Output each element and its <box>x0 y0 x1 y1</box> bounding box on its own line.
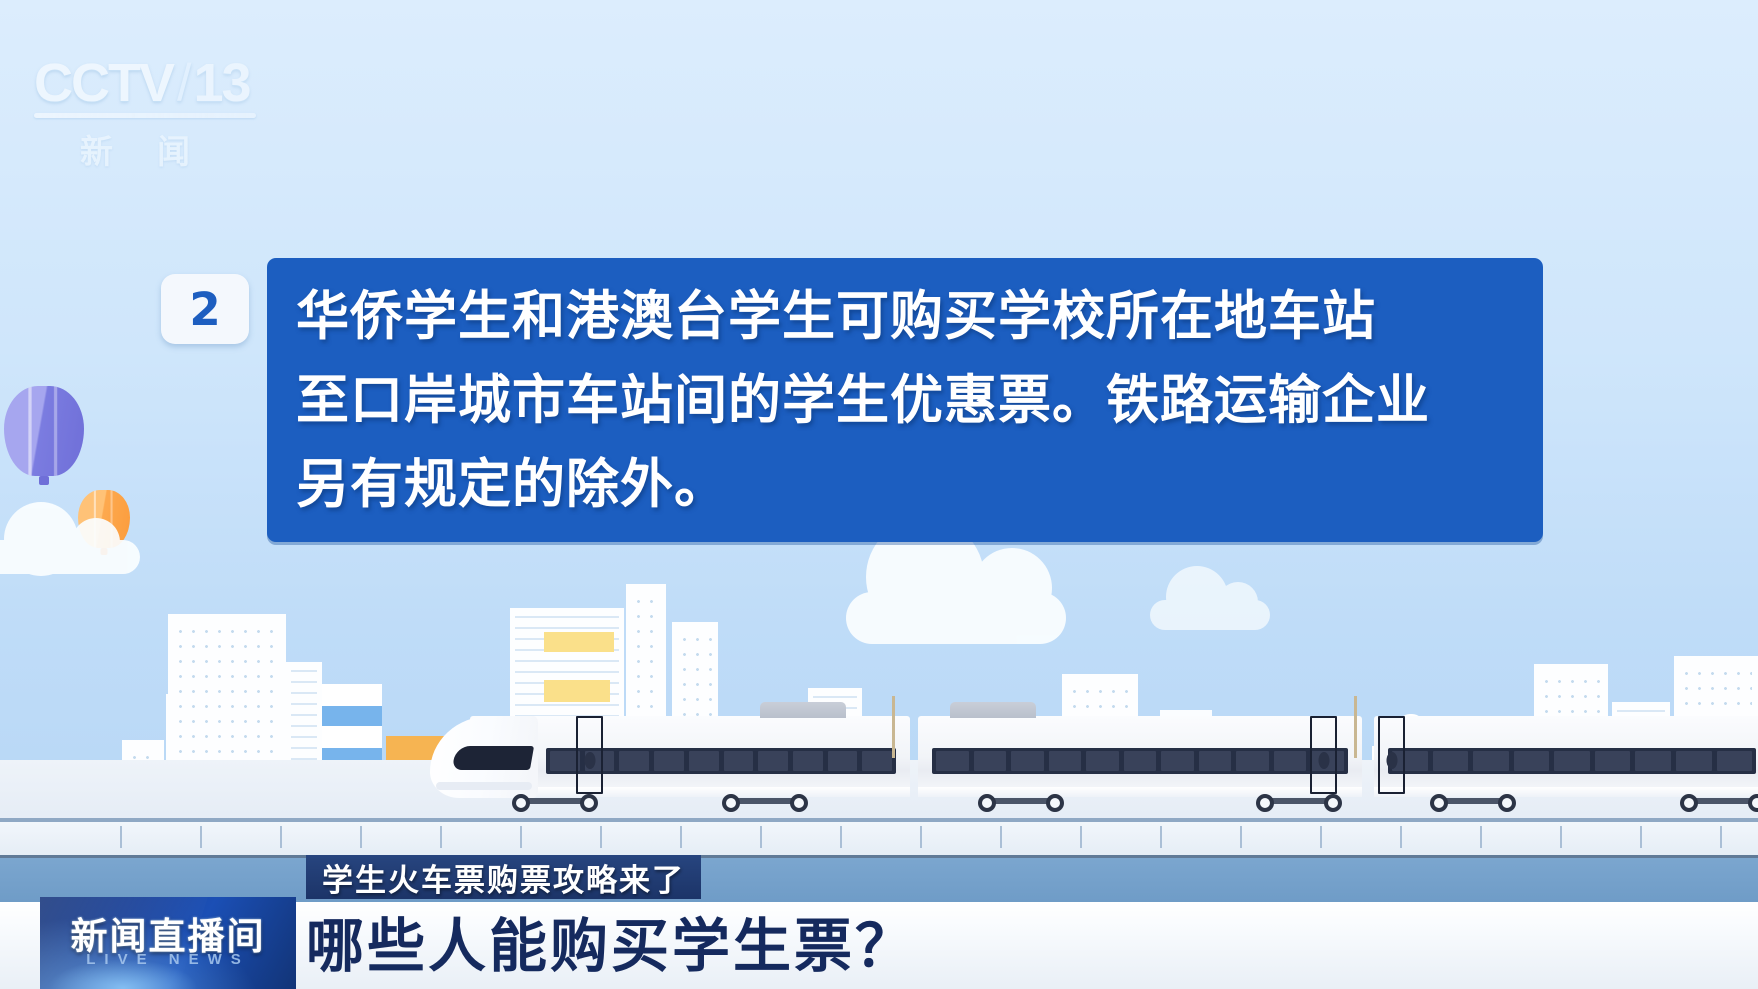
train-door-2[interactable] <box>1310 716 1337 794</box>
pantograph-2 <box>1354 696 1357 758</box>
train-door-3[interactable] <box>1378 716 1405 794</box>
logo-underline <box>34 113 256 118</box>
program-logo-badge: 新闻直播间 LIVE NEWS <box>40 897 296 989</box>
program-subtitle: LIVE NEWS <box>40 951 296 968</box>
roof-unit-1 <box>760 702 846 718</box>
lower-third-blue-band <box>0 858 1758 902</box>
high-speed-train-illustration <box>430 694 1758 844</box>
callout-line-3: 另有规定的除外。 <box>296 443 1517 527</box>
logo-cn-char-2: 闻 <box>157 125 190 173</box>
cctv13-watermark-logo: CCTV / 13 新 闻 <box>34 56 264 186</box>
callout-line-2: 至口岸城市车站间的学生优惠票。铁路运输企业 <box>296 359 1517 443</box>
pantograph-1 <box>892 696 895 758</box>
train-door-1[interactable] <box>576 716 603 794</box>
roof-unit-2 <box>950 702 1036 718</box>
callout-line-1: 华侨学生和港澳台学生可购买学校所在地车站 <box>296 275 1517 359</box>
cctv-wordmark: CCTV <box>34 56 173 110</box>
info-callout-panel: 华侨学生和港澳台学生可购买学校所在地车站 至口岸城市车站间的学生优惠票。铁路运输… <box>267 258 1543 542</box>
train-nose <box>430 716 538 798</box>
callout-text: 华侨学生和港澳台学生可购买学校所在地车站 至口岸城市车站间的学生优惠票。铁路运输… <box>296 275 1517 527</box>
broadcast-frame: CCTV / 13 新 闻 <box>0 0 1758 989</box>
logo-cn-char-1: 新 <box>80 125 113 173</box>
callout-number-badge: 2 <box>161 274 249 344</box>
lower-third-headline: 哪些人能购买学生票？ <box>306 898 916 984</box>
logo-slash-icon: / <box>177 57 189 109</box>
lower-third-kicker: 学生火车票购票攻略来了 <box>306 855 701 899</box>
channel-number: 13 <box>193 56 249 110</box>
